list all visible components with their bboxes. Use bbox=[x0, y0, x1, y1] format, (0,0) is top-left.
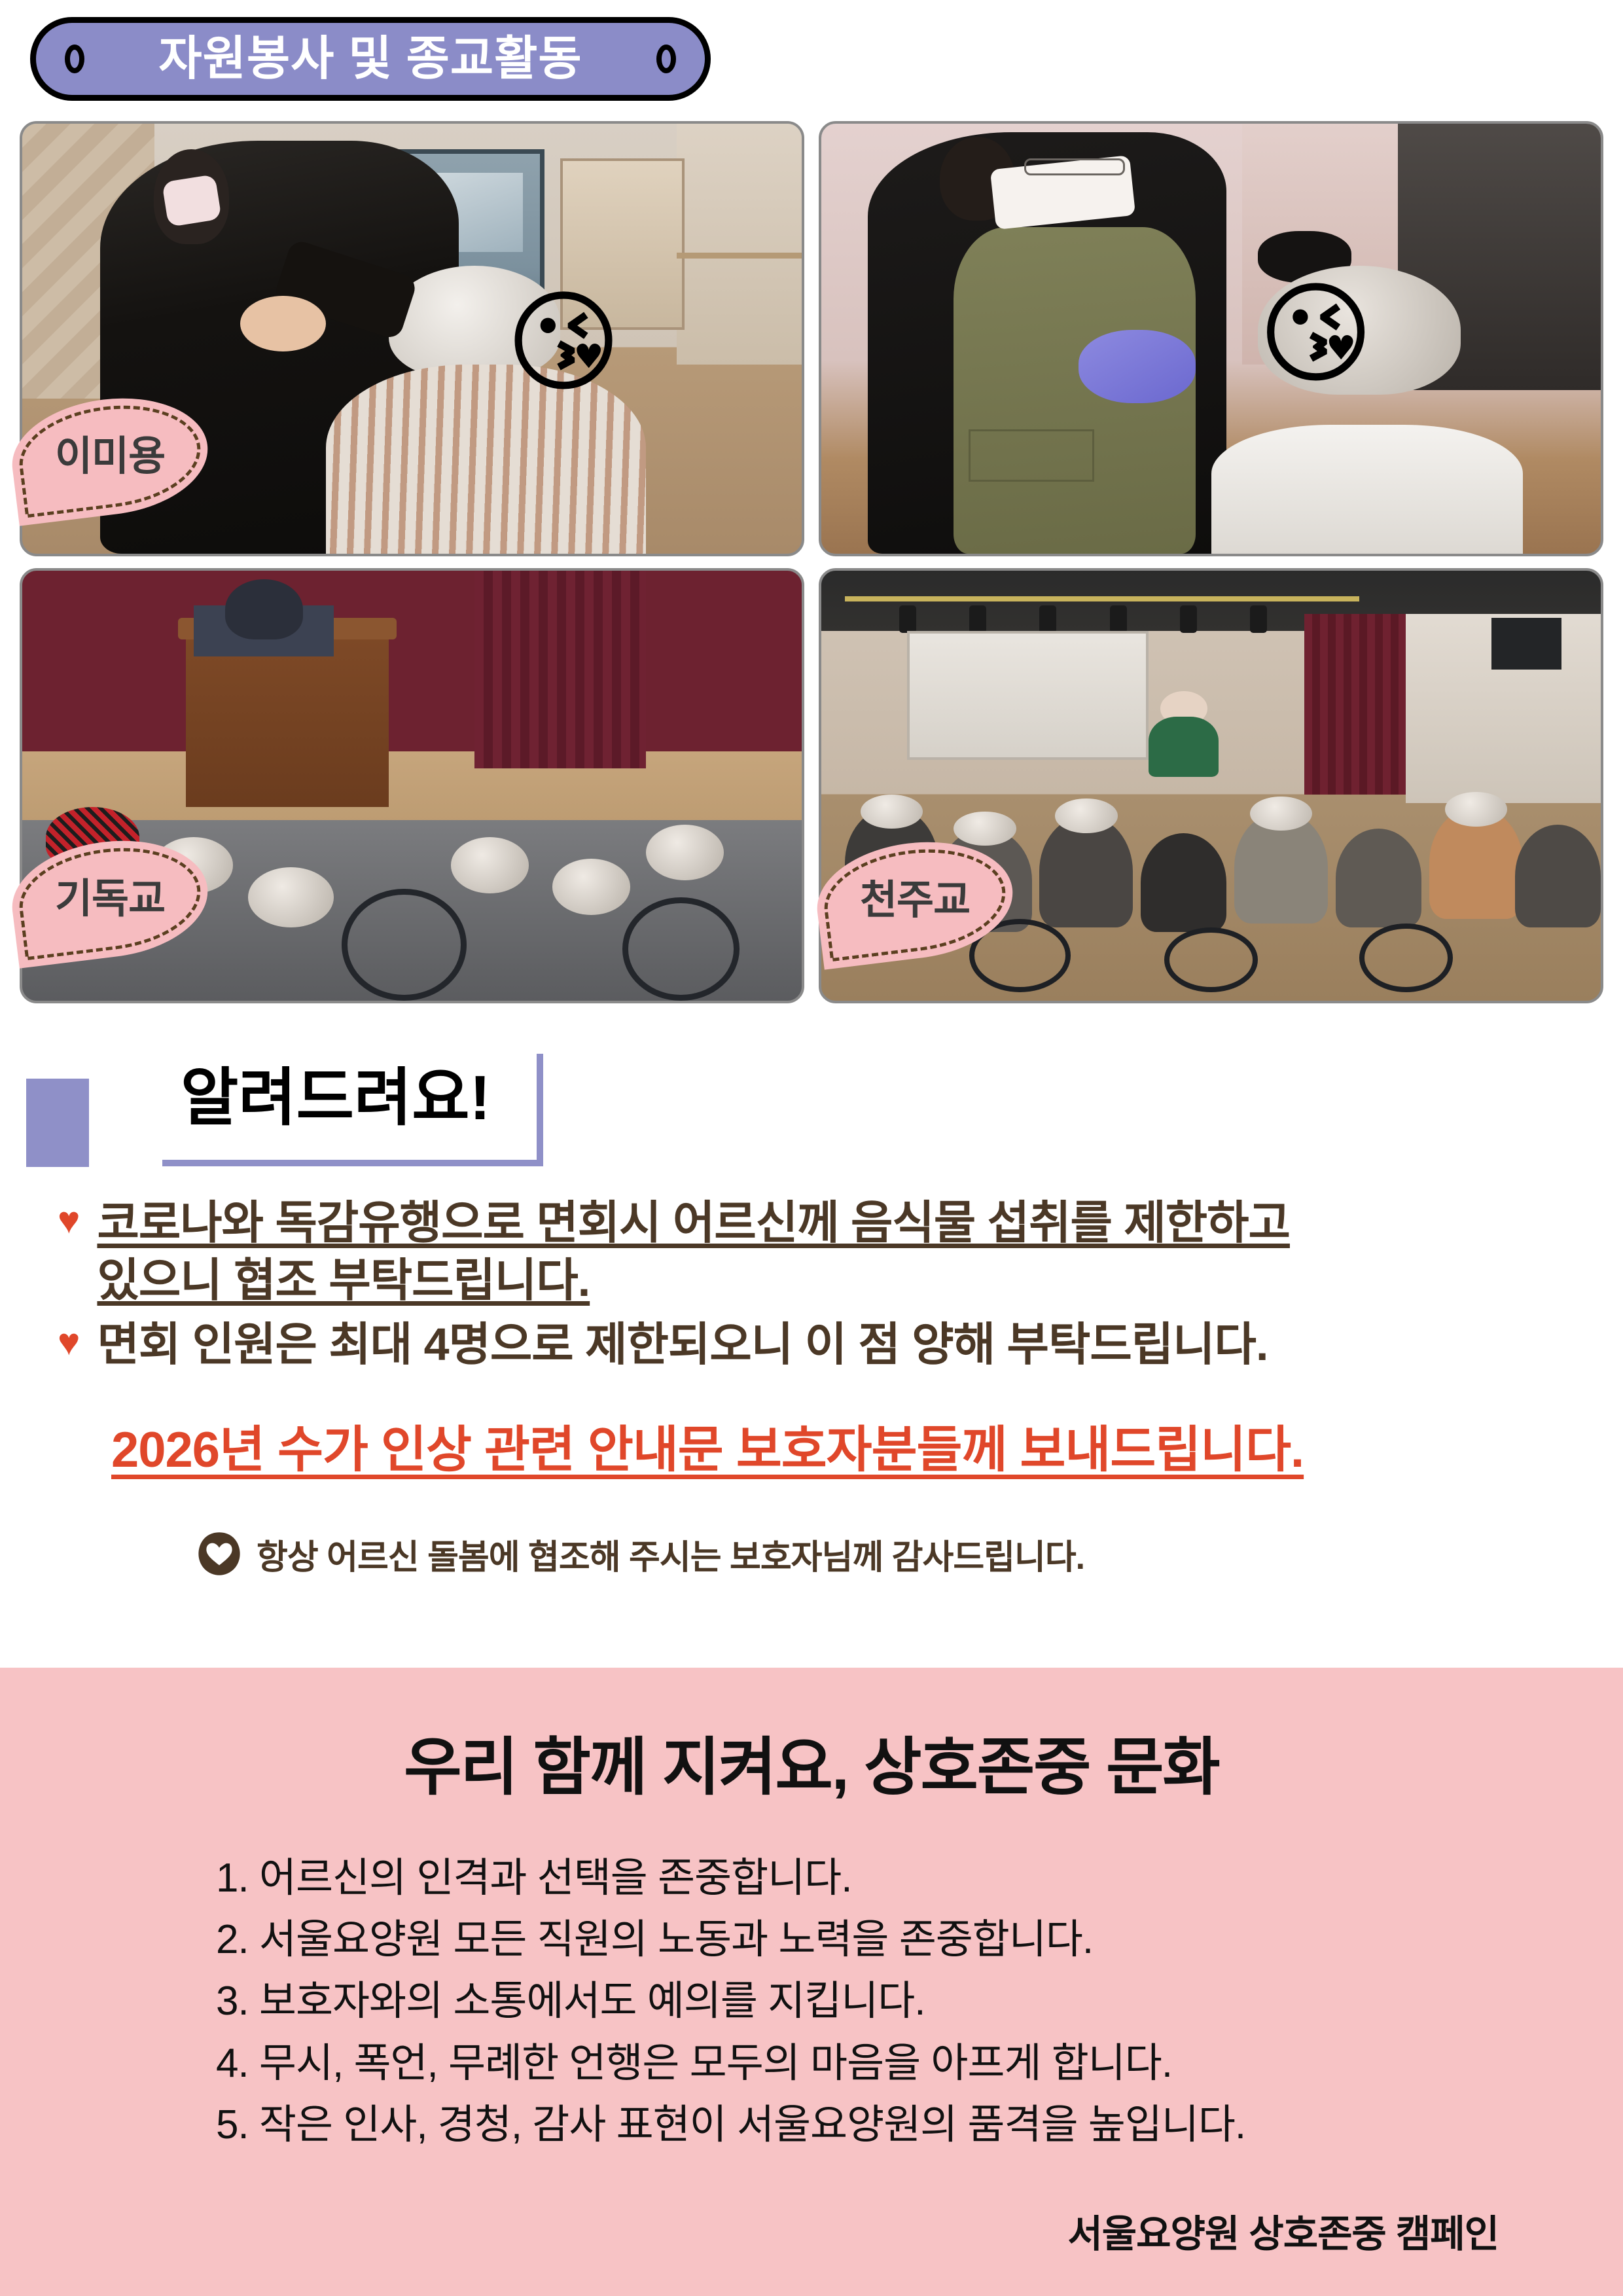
notice-list: ♥ 코로나와 독감유행으로 면회시 어르신께 음식물 섭취를 제한하고 있으니 … bbox=[58, 1194, 1582, 1374]
projection-screen bbox=[907, 631, 1149, 760]
stage-light bbox=[1250, 605, 1267, 633]
campaign-list: 1. 어르신의 인격과 선택을 존중합니다. 2. 서울요양원 모든 직원의 노… bbox=[216, 1848, 1623, 2156]
notice-heading: 알려드려요! bbox=[181, 1060, 491, 1136]
notice-item: ♥ 코로나와 독감유행으로 면회시 어르신께 음식물 섭취를 제한하고 있으니 … bbox=[58, 1194, 1582, 1309]
heading-accent-square bbox=[26, 1079, 89, 1167]
preacher-head bbox=[225, 579, 303, 639]
campaign-list-item: 2. 서울요양원 모든 직원의 노동과 노력을 존중합니다. bbox=[216, 1909, 1623, 1971]
photo-caption-label: 이미용 bbox=[55, 437, 165, 477]
resident-head bbox=[451, 837, 529, 893]
blue-glove bbox=[1079, 330, 1196, 403]
resident-head bbox=[552, 859, 630, 914]
stage-curtain bbox=[474, 571, 646, 768]
corridor-right-wall bbox=[677, 124, 802, 365]
notice-thanks-text: 항상 어르신 돌봄에 협조해 주시는 보호자님께 감사드립니다. bbox=[257, 1530, 1084, 1579]
campaign-list-item: 1. 어르신의 인격과 선택을 존중합니다. bbox=[216, 1848, 1623, 1909]
stage-light bbox=[899, 605, 916, 633]
campaign-list-item: 3. 보호자와의 소통에서도 예의를 지킵니다. bbox=[216, 1971, 1623, 2032]
notice-item-text: 코로나와 독감유행으로 면회시 어르신께 음식물 섭취를 제한하고 있으니 협조… bbox=[97, 1194, 1290, 1309]
notice-thanks-row: 항상 어르신 돌봄에 협조해 주시는 보호자님께 감사드립니다. bbox=[196, 1530, 1623, 1579]
stage-light bbox=[1039, 605, 1056, 633]
photo-grid: 😘 😘 bbox=[20, 121, 1603, 1003]
banner-plate: 자원봉사 및 종교활동 bbox=[30, 17, 711, 101]
newsletter-page: 자원봉사 및 종교활동 😘 bbox=[0, 0, 1623, 2296]
notice-item-line: 코로나와 독감유행으로 면회시 어르신께 음식물 섭취를 제한하고 bbox=[97, 1197, 1290, 1248]
notice-highlight: 2026년 수가 인상 관련 안내문 보호자분들께 보내드립니다. bbox=[111, 1409, 1623, 1481]
campaign-section: 우리 함께 지켜요, 상호존중 문화 1. 어르신의 인격과 선택을 존중합니다… bbox=[0, 1668, 1623, 2296]
photo-caption-label: 기독교 bbox=[55, 879, 165, 920]
rivet-hole-icon-left bbox=[65, 45, 84, 73]
resident-cape bbox=[1211, 425, 1523, 554]
stage-curtain bbox=[1304, 614, 1406, 795]
kissing-face-emoji: 😘 bbox=[505, 287, 621, 399]
priest-figure bbox=[1149, 717, 1219, 777]
notice-item: ♥ 면회 인원은 최대 4명으로 제한되오니 이 점 양해 부탁드립니다. bbox=[58, 1316, 1582, 1373]
heart-bullet-icon: ♥ bbox=[58, 1199, 80, 1243]
wheelchair-wheel bbox=[622, 897, 740, 1001]
banner-title: 자원봉사 및 종교활동 bbox=[158, 35, 582, 82]
notice-heading-block: 알려드려요! bbox=[26, 1054, 543, 1178]
ceiling-truss bbox=[845, 596, 1359, 601]
handrail bbox=[677, 253, 802, 259]
kissing-face-emoji: 😘 bbox=[1258, 279, 1374, 390]
stage-light bbox=[969, 605, 986, 633]
photo-haircut: 😘 bbox=[819, 121, 1603, 556]
wheelchair-wheel bbox=[342, 889, 467, 1001]
campaign-list-item: 4. 무시, 폭언, 무례한 언행은 모두의 마음을 아프게 합니다. bbox=[216, 2033, 1623, 2094]
campaign-title: 우리 함께 지켜요, 상호존중 문화 bbox=[0, 1716, 1623, 1807]
campaign-signature: 서울요양원 상호존중 캠페인 bbox=[1067, 2203, 1499, 2258]
section-banner: 자원봉사 및 종교활동 bbox=[30, 17, 711, 101]
notice-item-line: 면회 인원은 최대 4명으로 제한되오니 이 점 양해 부탁드립니다. bbox=[97, 1316, 1268, 1373]
speaker-box bbox=[1491, 618, 1561, 670]
heart-circle-icon bbox=[196, 1530, 242, 1577]
eyeglasses bbox=[1024, 158, 1126, 175]
notice-section: 알려드려요! ♥ 코로나와 독감유행으로 면회시 어르신께 음식물 섭취를 제한… bbox=[0, 1054, 1623, 1579]
notice-item-line: 있으니 협조 부탁드립니다. bbox=[97, 1255, 590, 1306]
stage-light bbox=[1110, 605, 1127, 633]
campaign-list-item: 5. 작은 인사, 경청, 감사 표현이 서울요양원의 품격을 높입니다. bbox=[216, 2094, 1623, 2156]
stage-light bbox=[1180, 605, 1197, 633]
resident-head bbox=[248, 867, 334, 927]
rivet-hole-icon-right bbox=[656, 45, 676, 73]
volunteer-hand bbox=[240, 296, 326, 351]
resident-head bbox=[646, 825, 724, 880]
heart-bullet-icon: ♥ bbox=[58, 1321, 80, 1365]
photo-caption-label: 천주교 bbox=[860, 880, 970, 921]
